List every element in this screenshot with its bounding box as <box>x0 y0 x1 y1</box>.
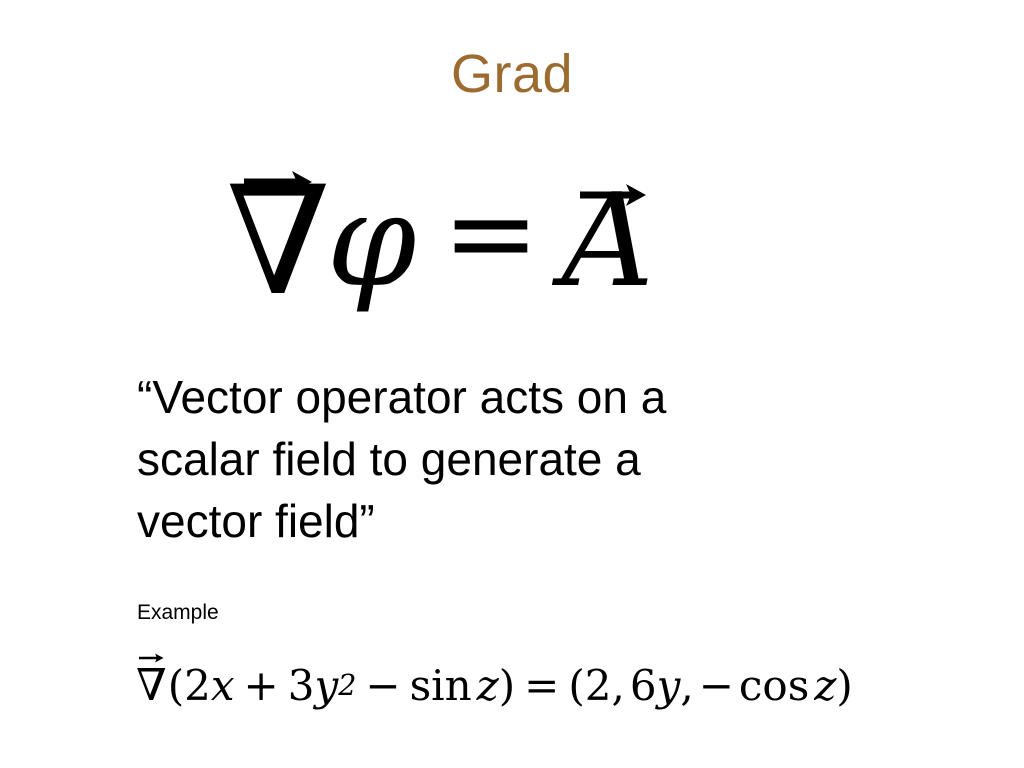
rhs-comma2: , <box>680 661 693 710</box>
phi-term: φ <box>331 178 417 306</box>
lhs-term2-exponent: 2 <box>338 668 356 702</box>
lhs-sin-function: sin <box>410 661 472 710</box>
rhs-comp1: 2 <box>585 661 612 710</box>
lhs-sin-var: z <box>477 661 499 710</box>
equals-symbol: = <box>442 176 539 292</box>
rhs-cos-var: z <box>814 661 836 710</box>
phi-symbol: φ <box>327 178 417 306</box>
lhs-term2-var: y <box>314 661 338 710</box>
vector-a-symbol: A <box>562 178 654 306</box>
slide: Grad ∇ φ = A “ <box>0 0 1024 768</box>
nabla-symbol: ∇ <box>226 167 331 317</box>
a-vector-term: A <box>562 178 654 306</box>
lhs-term1-var: x <box>211 661 235 710</box>
example-nabla-symbol: ∇ <box>136 664 167 708</box>
main-equation: ∇ φ = A <box>226 152 746 332</box>
lhs-open-paren: ( <box>168 661 184 710</box>
quote-line-1: “Vector operator acts on a <box>137 366 877 428</box>
lhs-minus: − <box>365 661 400 710</box>
rhs-comp2-var: y <box>657 661 681 710</box>
example-nabla-vector-term: ∇ <box>136 661 167 710</box>
rhs-minus: − <box>699 661 734 710</box>
page-title: Grad <box>0 47 1024 101</box>
vector-arrow-icon <box>138 652 164 663</box>
rhs-close-paren: ) <box>836 661 852 710</box>
example-label: Example <box>137 601 219 625</box>
example-equation: ∇ ( 2 x + 3 y 2 − sin z ) = ( 2 , 6 y , … <box>136 650 936 720</box>
lhs-term2-coeff: 3 <box>288 661 315 710</box>
lhs-close-paren: ) <box>499 661 515 710</box>
rhs-comp2-coeff: 6 <box>630 661 657 710</box>
rhs-cos-function: cos <box>739 661 809 710</box>
rhs-open-paren: ( <box>568 661 584 710</box>
nabla-vector-term: ∇ <box>226 167 331 317</box>
quote-line-3: vector field” <box>137 490 877 552</box>
quote-line-2: scalar field to generate a <box>137 428 877 490</box>
rhs-comma1: , <box>612 661 625 710</box>
lhs-plus: + <box>244 661 279 710</box>
quote-text: “Vector operator acts on a scalar field … <box>137 366 877 552</box>
example-equals: = <box>524 661 559 710</box>
lhs-term1-coeff: 2 <box>184 661 211 710</box>
